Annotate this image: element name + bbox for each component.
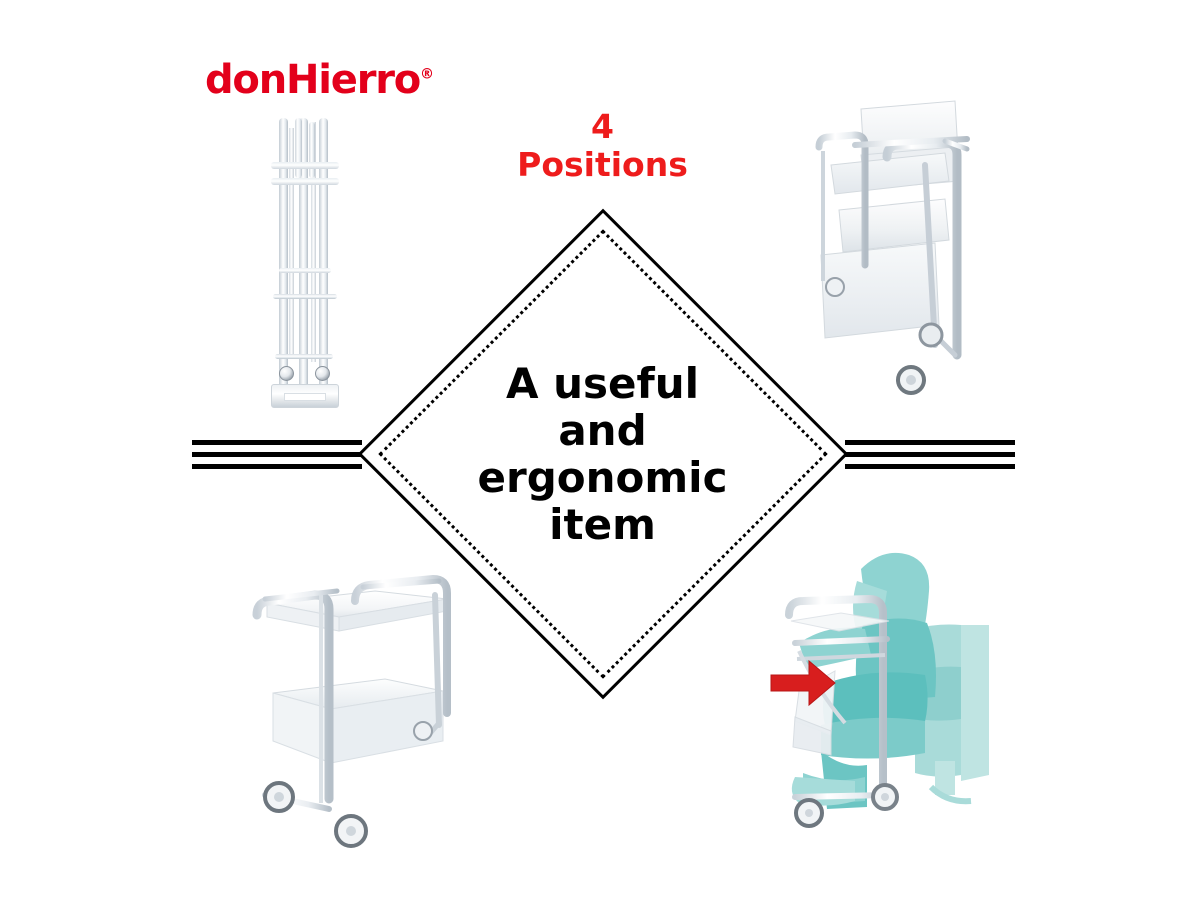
center-badge-line-4: item [438,501,768,548]
product-photo-cart-in-use [765,525,995,850]
rule-line [192,440,362,445]
center-badge-line-2: and [438,407,768,454]
center-badge-text: A useful and ergonomic item [438,360,768,548]
slide-canvas: donHierro® 4 Positions A useful and ergo… [0,0,1196,897]
product-photo-folded-cart [265,118,345,408]
registered-trademark-icon: ® [420,67,434,83]
center-badge-line-1: A useful [438,360,768,407]
brand-logo: donHierro® [205,60,434,100]
right-rule-group [845,440,1015,474]
rule-line [192,464,362,469]
rule-line [845,464,1015,469]
cart-illustration-bottom-left [235,555,460,860]
rule-line [845,440,1015,445]
center-badge-line-3: ergonomic [438,454,768,501]
cart-illustration-top-right [795,95,1000,410]
product-photo-open-trolley [235,555,460,860]
rule-line [192,452,362,457]
left-rule-group [192,440,362,474]
in-use-illustration [765,525,995,850]
page-title-line-1: 4 [440,108,765,146]
product-photo-shelves-folded-cart [795,95,1000,410]
page-title: 4 Positions [440,108,765,183]
page-title-line-2: Positions [440,146,765,184]
rule-line [845,452,1015,457]
brand-logo-text: donHierro [205,57,420,103]
